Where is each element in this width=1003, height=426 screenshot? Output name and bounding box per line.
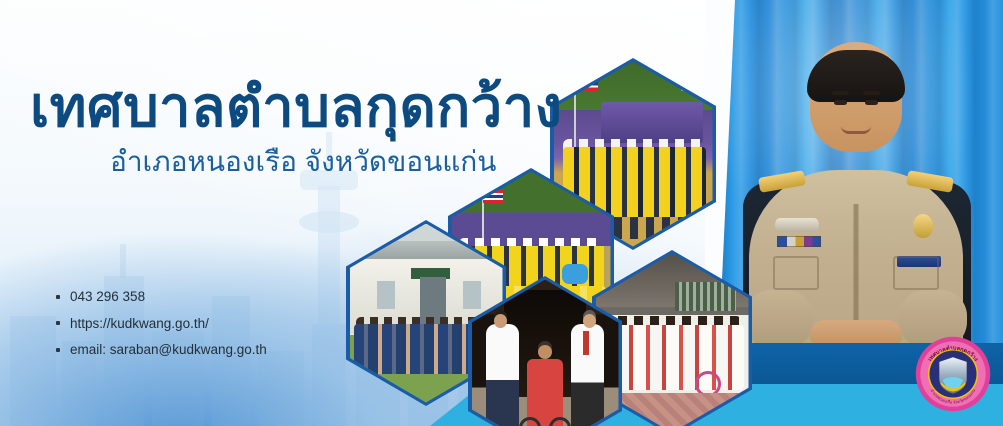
title-block: เทศบาลตำบลกุดกว้าง อำเภอหนองเรือ จังหวัด… <box>30 78 650 178</box>
contact-phone-text: 043 296 358 <box>70 290 145 304</box>
epaulette-right <box>906 170 954 193</box>
contact-list: 043 296 358 https://kudkwang.go.th/ emai… <box>56 290 267 370</box>
pocket-left <box>773 256 819 290</box>
mouth <box>841 126 871 134</box>
head <box>810 42 902 152</box>
eye-right <box>865 100 878 105</box>
eye-left <box>834 100 847 105</box>
contact-email-text: email: saraban@kudkwang.go.th <box>70 343 267 357</box>
contact-item-website[interactable]: https://kudkwang.go.th/ <box>56 317 267 331</box>
pocket-right <box>893 256 939 290</box>
wing-insignia <box>775 218 819 232</box>
eyebrow-right <box>863 91 880 95</box>
bullet-icon <box>56 321 60 325</box>
page-subtitle: อำเภอหนองเรือ จังหวัดขอนแก่น <box>110 147 650 178</box>
medal-ribbon-bar <box>777 236 821 247</box>
bullet-icon <box>56 348 60 352</box>
hair <box>807 50 905 102</box>
bullet-icon <box>56 295 60 299</box>
contact-item-email[interactable]: email: saraban@kudkwang.go.th <box>56 343 267 357</box>
arm-left <box>745 290 813 348</box>
page-title: เทศบาลตำบลกุดกว้าง <box>30 78 650 137</box>
eyebrow-left <box>832 91 849 95</box>
epaulette-left <box>758 170 806 193</box>
contact-item-phone[interactable]: 043 296 358 <box>56 290 267 304</box>
contact-website-text: https://kudkwang.go.th/ <box>70 317 209 331</box>
municipality-seal-logo[interactable]: เทศบาลตำบลกุดกว้าง อำเภอหนองเรือ จังหวัด… <box>915 336 991 412</box>
municipality-banner: เทศบาลตำบลกุดกว้าง อำเภอหนองเรือ จังหวัด… <box>0 0 1003 426</box>
gold-badge-icon <box>913 214 933 238</box>
